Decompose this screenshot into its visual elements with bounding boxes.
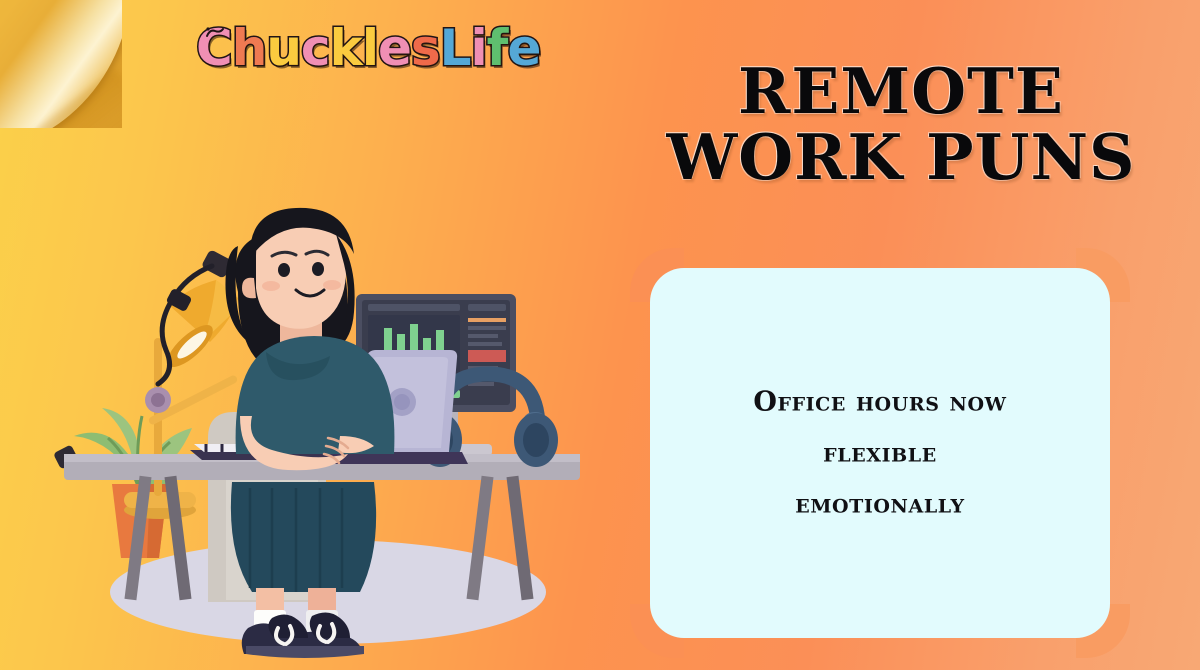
poster-canvas: C h u c k l e s L i f e REMOTE WORK PUNS… <box>0 0 1200 670</box>
logo-letter-h: h <box>232 18 267 78</box>
logo-letter-e: e <box>378 18 411 78</box>
card-notch-top-left <box>650 268 684 302</box>
card-notch-bottom-right <box>1076 604 1110 638</box>
logo-letter-s: s <box>411 18 440 78</box>
logo-letter-u: u <box>266 18 301 78</box>
workspace-illustration <box>40 200 600 660</box>
logo-letter-l: l <box>362 18 378 78</box>
pun-quote-card: Office hours now flexible emotionally <box>650 268 1110 638</box>
logo-letter-c: c <box>301 18 330 78</box>
pun-quote-line-2: flexible <box>684 428 1076 479</box>
page-curl-decoration <box>0 0 122 128</box>
logo-letter-L: L <box>440 18 471 78</box>
logo-letter-e2: e <box>507 18 540 78</box>
logo-letter-f: f <box>487 18 508 78</box>
logo-letter-i: i <box>471 18 487 78</box>
logo-face-icon <box>205 27 225 39</box>
pun-quote-line-3: emotionally <box>684 479 1076 530</box>
pun-quote-text: Office hours now flexible emotionally <box>684 377 1076 530</box>
page-title: REMOTE WORK PUNS <box>620 58 1182 190</box>
logo-letter-k: k <box>330 18 362 78</box>
pun-quote-line-1: Office hours now <box>684 377 1076 428</box>
card-notch-bottom-left <box>650 604 684 638</box>
page-title-line1: REMOTE <box>620 58 1182 124</box>
card-notch-top-right <box>1076 268 1110 302</box>
page-title-line2: WORK PUNS <box>620 124 1182 190</box>
brand-logo[interactable]: C h u c k l e s L i f e <box>196 18 540 80</box>
